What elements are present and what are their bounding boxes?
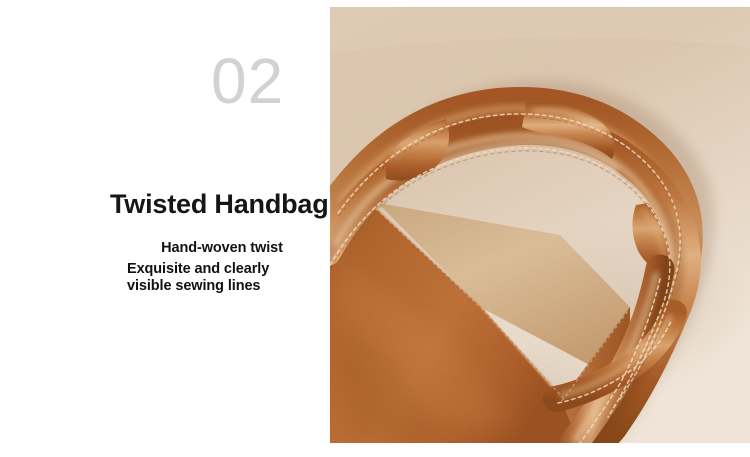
handbag-illustration xyxy=(330,7,750,443)
step-number: 02 xyxy=(211,49,284,113)
subtitle-line-3: visible sewing lines xyxy=(127,278,317,295)
page-title: Twisted Handbag xyxy=(110,190,329,220)
product-feature-banner: 02 Twisted Handbag Hand-woven twist Exqu… xyxy=(0,0,750,457)
subtitle-line-1: Hand-woven twist xyxy=(127,240,317,257)
product-photo xyxy=(330,7,750,443)
subtitle-block: Hand-woven twist Exquisite and clearly v… xyxy=(127,240,317,295)
subtitle-line-2: Exquisite and clearly xyxy=(127,261,317,278)
text-panel: 02 Twisted Handbag Hand-woven twist Exqu… xyxy=(0,0,340,457)
